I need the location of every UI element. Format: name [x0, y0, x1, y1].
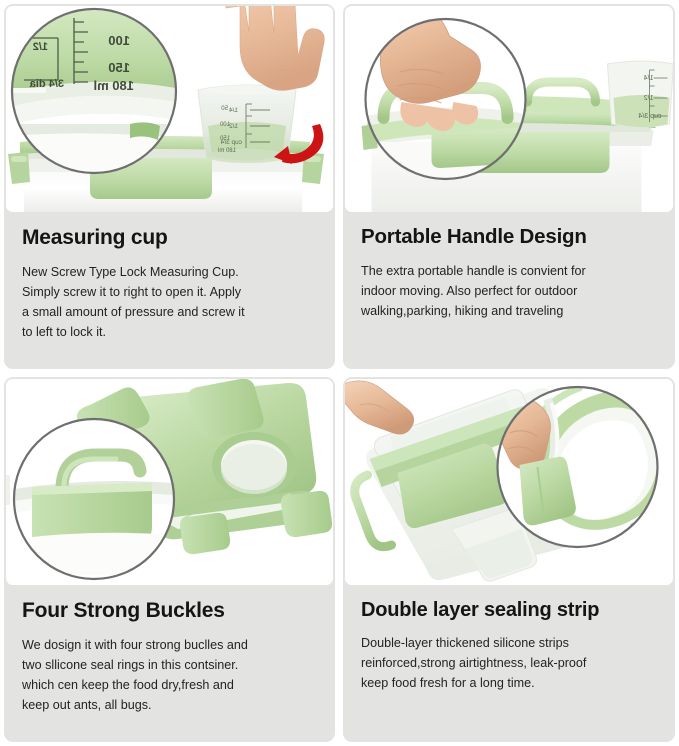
- feature-card-sealing-strip: Double layer sealing strip Double-layer …: [343, 377, 675, 742]
- svg-text:100: 100: [108, 33, 130, 48]
- measuring-cup-illustration: 1/4 1/2 cup 3/4 50 100 150 180 ml: [6, 6, 333, 212]
- four-buckles-photo: [6, 379, 333, 585]
- feature-title: Double layer sealing strip: [361, 599, 657, 621]
- svg-text:150: 150: [108, 60, 130, 75]
- feature-body: We dosign it with four strong buclles an…: [22, 635, 317, 715]
- sealing-strip-illustration: [345, 379, 673, 585]
- svg-text:cup 3/4: cup 3/4: [638, 113, 661, 120]
- four-buckles-illustration: [6, 379, 333, 585]
- feature-card-measuring-cup: 1/4 1/2 cup 3/4 50 100 150 180 ml: [4, 4, 335, 369]
- svg-text:180 ml: 180 ml: [218, 148, 236, 154]
- svg-text:1/4: 1/4: [229, 107, 238, 114]
- feature-card-portable-handle: 1/4 1/2 cup 3/4: [343, 4, 675, 369]
- feature-title: Portable Handle Design: [361, 226, 657, 249]
- feature-title: Measuring cup: [22, 226, 317, 250]
- svg-text:1/4: 1/4: [644, 75, 654, 82]
- svg-text:100: 100: [219, 122, 230, 128]
- feature-grid: 1/4 1/2 cup 3/4 50 100 150 180 ml: [0, 0, 679, 746]
- feature-body: Double-layer thickened silicone strips r…: [361, 633, 657, 693]
- svg-text:150: 150: [219, 136, 230, 142]
- portable-handle-photo: 1/4 1/2 cup 3/4: [345, 6, 673, 212]
- feature-caption: Portable Handle Design The extra portabl…: [343, 212, 675, 369]
- svg-text:1/2: 1/2: [33, 41, 48, 53]
- feature-caption: Double layer sealing strip Double-layer …: [343, 585, 675, 742]
- measuring-cup-photo: 1/4 1/2 cup 3/4 50 100 150 180 ml: [6, 6, 333, 212]
- feature-caption: Four Strong Buckles We dosign it with fo…: [4, 585, 335, 742]
- feature-caption: Measuring cup New Screw Type Lock Measur…: [4, 212, 335, 369]
- feature-card-four-buckles: Four Strong Buckles We dosign it with fo…: [4, 377, 335, 742]
- portable-handle-illustration: 1/4 1/2 cup 3/4: [345, 6, 673, 212]
- sealing-strip-photo: [345, 379, 673, 585]
- feature-title: Four Strong Buckles: [22, 599, 317, 623]
- svg-text:180 ml: 180 ml: [94, 78, 134, 93]
- svg-text:1/2: 1/2: [644, 95, 654, 102]
- feature-body: New Screw Type Lock Measuring Cup. Simpl…: [22, 262, 317, 342]
- svg-text:50: 50: [221, 106, 228, 112]
- feature-body: The extra portable handle is convient fo…: [361, 261, 657, 321]
